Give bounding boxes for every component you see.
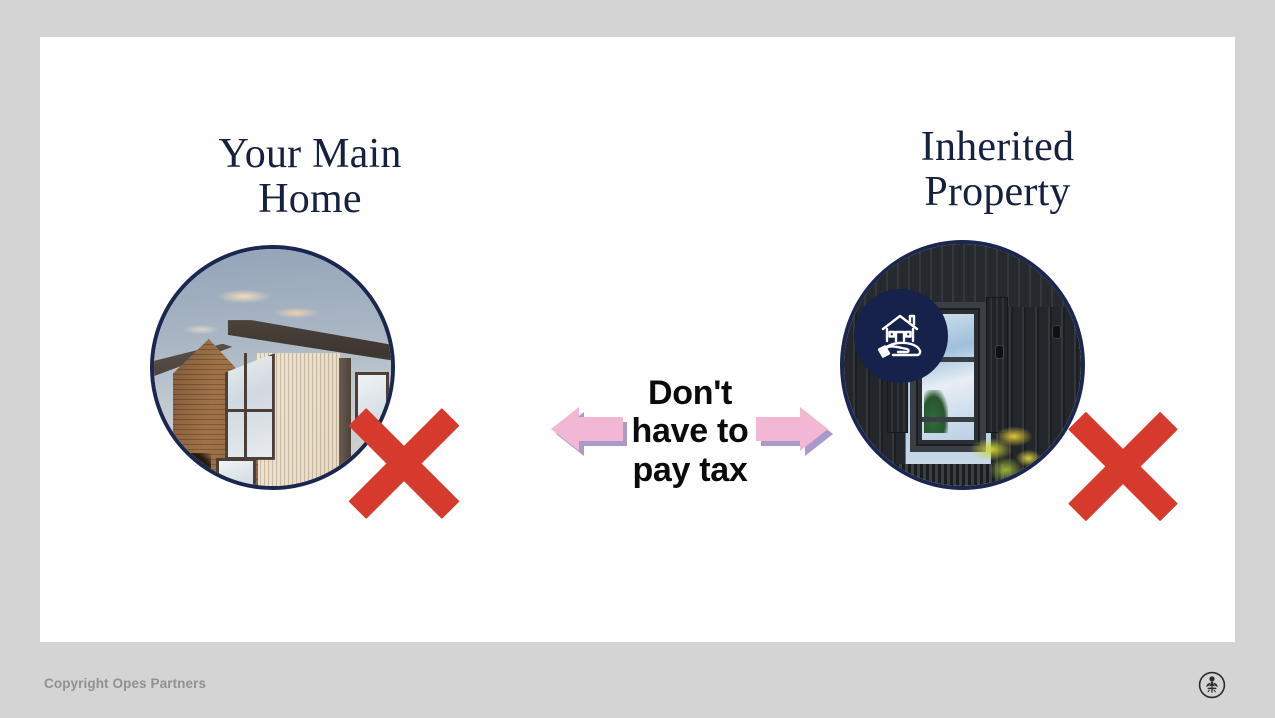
- window-mullion: [244, 353, 247, 460]
- right-exclusion-x-icon: [1058, 401, 1188, 531]
- slide-canvas: Your Main Home Don't have to pay tax: [40, 37, 1235, 642]
- garden-shrub: [168, 453, 211, 490]
- arrow-right-icon: [752, 404, 834, 456]
- left-exclusion-x-icon: [338, 397, 470, 529]
- left-column-title: Your Main Home: [170, 132, 450, 222]
- shutter-handle-3: [1053, 326, 1060, 338]
- shutter-handle-2: [996, 346, 1003, 358]
- window-reflection-greenery: [924, 390, 948, 433]
- fleur-de-lis-logo: [1198, 671, 1226, 699]
- footer-copyright: Copyright Opes Partners: [44, 676, 206, 691]
- lower-window: [216, 458, 256, 490]
- house-in-hand-icon: [854, 289, 948, 383]
- right-column-title: Inherited Property: [860, 125, 1135, 215]
- yellow-foliage: [967, 413, 1048, 486]
